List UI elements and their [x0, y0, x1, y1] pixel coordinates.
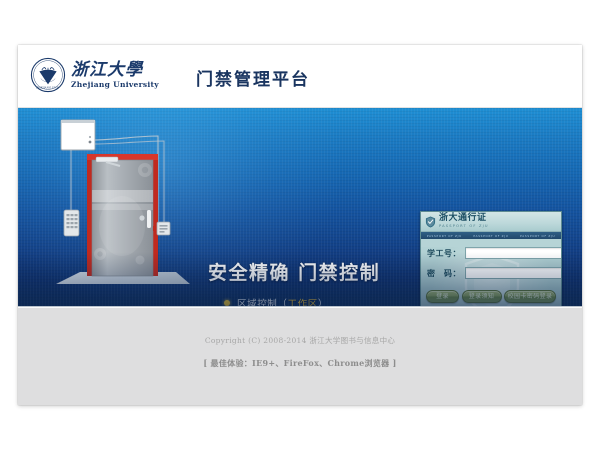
strip-text: PASSPORT OF ZJU	[473, 234, 508, 238]
login-panel-strip: PASSPORT OF ZJU PASSPORT OF ZJU PASSPORT…	[421, 232, 561, 239]
username-field-row: 学工号：	[421, 247, 561, 259]
hero-banner: 安全精确 门禁控制 区域控制（工作区） 群组控制（权限组） 时段控制（时间段）	[18, 108, 582, 306]
bullet-main-text: 区域控制	[237, 299, 277, 306]
site-footer: Copyright (C) 2008-2014 浙江大学图书与信息中心 [ 最佳…	[18, 306, 582, 405]
password-label: 密 码：	[427, 268, 461, 279]
login-panel-header: 浙大通行证 PASSPORT OF ZJU	[421, 212, 561, 232]
university-wordmark: 浙江大學 Zhejiang University	[71, 62, 159, 89]
strip-text: PASSPORT OF ZJU	[520, 234, 555, 238]
login-panel-title-cn: 浙大通行证	[439, 214, 489, 223]
campus-card-login-button[interactable]: 校园卡密码登录	[504, 290, 556, 303]
page-title: 门禁管理平台	[196, 65, 310, 90]
login-button-row: 登录 登录须知 校园卡密码登录	[421, 290, 561, 303]
username-input[interactable]	[465, 247, 562, 259]
bullet-paren-open: （	[277, 299, 287, 306]
login-form: 学工号： 密 码： 登录 登录须知 校园卡密码登录	[421, 247, 561, 306]
bullet-paren-close: ）	[318, 299, 328, 306]
site-header: ZHEJIANG UNIV 浙江大學 Zhejiang University 门…	[18, 45, 582, 108]
feature-bullet-list: 区域控制（工作区） 群组控制（权限组） 时段控制（时间段）	[224, 296, 424, 306]
bullet-text: 区域控制（工作区）	[237, 296, 328, 306]
login-panel-title-en: PASSPORT OF ZJU	[439, 225, 489, 229]
browser-recommendation-text: [ 最佳体验：IE9+、FireFox、Chrome浏览器 ]	[18, 358, 582, 369]
bullet-accent-text: 工作区	[288, 299, 318, 306]
password-input[interactable]	[465, 267, 562, 279]
university-name-cn: 浙江大學	[71, 62, 159, 79]
login-panel: 浙大通行证 PASSPORT OF ZJU PASSPORT OF ZJU PA…	[420, 211, 562, 306]
svg-text:ZHEJIANG UNIV: ZHEJIANG UNIV	[36, 86, 59, 90]
username-label: 学工号：	[427, 248, 461, 259]
list-item: 区域控制（工作区）	[224, 296, 424, 306]
page-container: ZHEJIANG UNIV 浙江大學 Zhejiang University 门…	[18, 45, 582, 405]
university-logo[interactable]: ZHEJIANG UNIV 浙江大學 Zhejiang University	[30, 57, 159, 93]
shield-icon	[425, 216, 436, 228]
login-panel-titles: 浙大通行证 PASSPORT OF ZJU	[439, 214, 489, 228]
university-name-en: Zhejiang University	[71, 81, 159, 89]
copyright-text: Copyright (C) 2008-2014 浙江大学图书与信息中心	[18, 335, 582, 346]
access-control-door-illustration	[44, 114, 194, 300]
footer-highlight-line	[18, 307, 582, 308]
banner-headline: 安全精确 门禁控制	[208, 258, 380, 285]
login-notice-button[interactable]: 登录须知	[462, 290, 502, 303]
password-field-row: 密 码：	[421, 267, 561, 279]
zju-seal-icon: ZHEJIANG UNIV	[30, 57, 66, 93]
strip-text: PASSPORT OF ZJU	[427, 234, 462, 238]
login-button[interactable]: 登录	[426, 290, 459, 303]
